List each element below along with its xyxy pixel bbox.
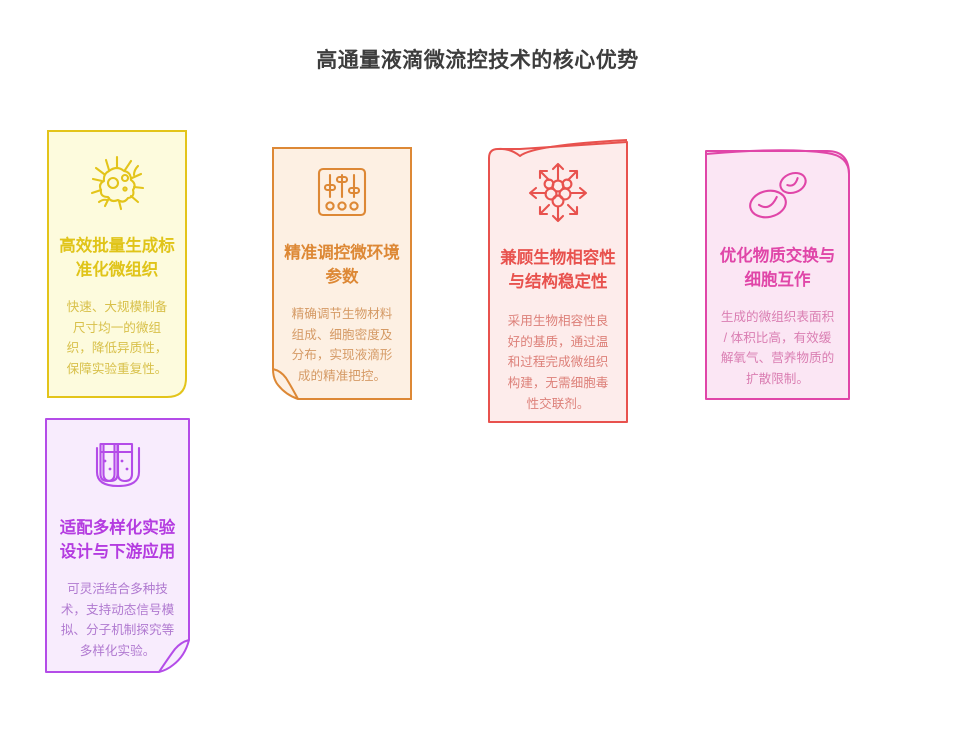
- card-4-body: 生成的微组织表面积 / 体积比高，有效缓解氧气、营养物质的扩散限制。: [720, 307, 836, 390]
- card-3-heading: 兼顾生物相容性与结构稳定性: [498, 247, 618, 295]
- card-4-heading: 优化物质交换与细胞互作: [715, 245, 840, 293]
- feature-card-5[interactable]: 适配多样化实验设计与下游应用 可灵活结合多种技术，支持动态信号模拟、分子机制探究…: [45, 418, 190, 673]
- card-5-body: 可灵活结合多种技术，支持动态信号模拟、分子机制探究等多样化实验。: [60, 579, 176, 662]
- card-5-heading: 适配多样化实验设计与下游应用: [55, 517, 180, 565]
- card-1-heading: 高效批量生成标准化微组织: [57, 235, 177, 283]
- feature-card-1[interactable]: 高效批量生成标准化微组织 快速、大规模制备尺寸均一的微组织，降低异质性，保障实验…: [47, 130, 187, 398]
- cell-cluster-spokes-icon: [525, 160, 591, 231]
- blood-cells-icon: [741, 166, 815, 229]
- feature-card-2[interactable]: 精准调控微环境参数 精确调节生物材料组成、细胞密度及分布，实现液滴形成的精准把控…: [272, 147, 412, 400]
- microbe-cell-icon: [86, 152, 148, 217]
- card-1-body: 快速、大规模制备尺寸均一的微组织，降低异质性，保障实验重复性。: [61, 297, 173, 380]
- equalizer-sliders-icon: [313, 163, 371, 226]
- feature-card-4[interactable]: 优化物质交换与细胞互作 生成的微组织表面积 / 体积比高，有效缓解氧气、营养物质…: [705, 150, 850, 400]
- card-3-body: 采用生物相容性良好的基质，通过温和过程完成微组织构建，无需细胞毒性交联剂。: [502, 311, 614, 415]
- test-tube-rack-icon: [87, 438, 149, 501]
- card-2-heading: 精准调控微环境参数: [282, 242, 402, 290]
- page-title: 高通量液滴微流控技术的核心优势: [0, 44, 955, 74]
- feature-card-3[interactable]: 兼顾生物相容性与结构稳定性 采用生物相容性良好的基质，通过温和过程完成微组织构建…: [488, 138, 628, 423]
- card-2-body: 精确调节生物材料组成、细胞密度及分布，实现液滴形成的精准把控。: [286, 304, 398, 387]
